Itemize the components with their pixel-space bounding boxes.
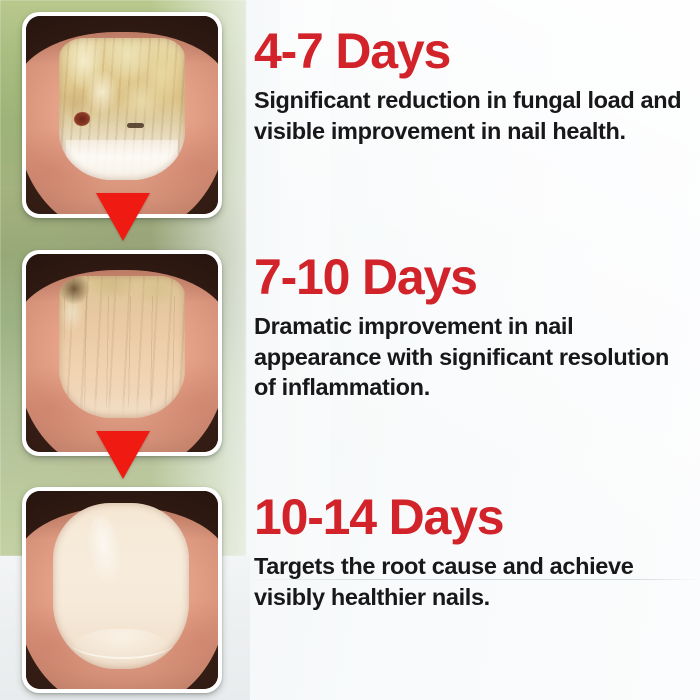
stage-photo-2-frame: [26, 254, 218, 452]
stage-heading-1: 4-7 Days: [254, 26, 694, 77]
residual-discoloration-texture: [59, 276, 186, 419]
stage-text-3: 10-14 Days Targets the root cause and ac…: [254, 492, 694, 612]
nail-distal-edge: [66, 140, 178, 180]
nail-free-edge: [64, 636, 181, 659]
nail-lunula: [69, 629, 173, 666]
stage-photo-3: [22, 487, 222, 693]
nail-highlight: [84, 514, 126, 588]
triangle-down-icon-2: [96, 431, 150, 479]
stage-text-2: 7-10 Days Dramatic improvement in nail a…: [254, 252, 694, 403]
nail-illustration-improving: [26, 254, 218, 452]
stage-photo-3-frame: [26, 491, 218, 689]
nail-dark-streak: [127, 123, 143, 127]
stage-description-2: Dramatic improvement in nail appearance …: [254, 311, 694, 403]
triangle-down-icon-1: [96, 193, 150, 241]
stage-photo-1: [22, 12, 222, 218]
nail-illustration-healthy: [26, 491, 218, 689]
nail-plate: [59, 276, 186, 419]
nail-dark-spot: [74, 112, 90, 126]
infographic-stage: 4-7 Days Significant reduction in fungal…: [0, 0, 700, 700]
stage-description-3: Targets the root cause and achieve visib…: [254, 551, 694, 612]
nail-illustration-severe: [26, 16, 218, 214]
stage-text-1: 4-7 Days Significant reduction in fungal…: [254, 26, 694, 146]
nail-plate: [59, 38, 186, 181]
nail-ridges: [64, 296, 181, 407]
stage-heading-2: 7-10 Days: [254, 252, 694, 303]
fungal-crust-texture: [59, 38, 186, 181]
stage-heading-3: 10-14 Days: [254, 492, 694, 543]
stage-photo-1-frame: [26, 16, 218, 214]
stage-photo-2: [22, 250, 222, 456]
nail-plate: [53, 503, 189, 669]
stage-description-1: Significant reduction in fungal load and…: [254, 85, 694, 146]
